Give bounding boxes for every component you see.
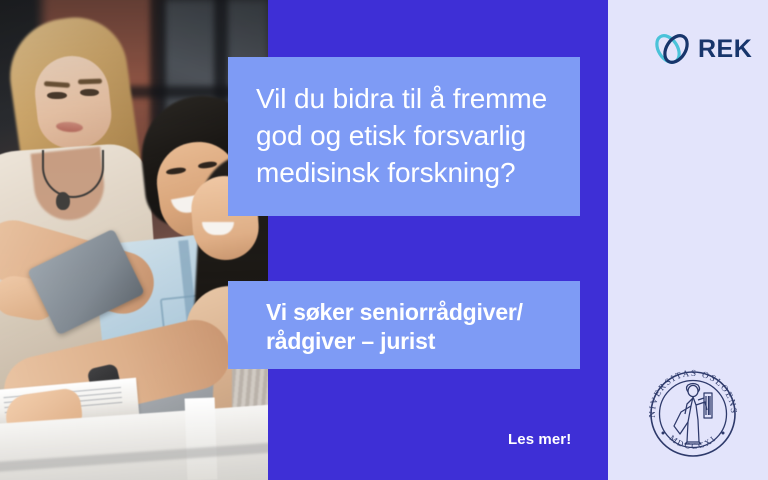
- rek-mark-icon: [650, 27, 694, 71]
- uio-seal-apollo-figure: [674, 384, 712, 445]
- headline-box: Vil du bidra til å fremme god og etisk f…: [228, 57, 580, 216]
- uio-seal-icon: UNIVERSITAS OSLOENSIS MDCCCXI: [641, 362, 745, 466]
- recruitment-banner: REK UNIVERSITAS OSLOENSIS MDCCCXI: [0, 0, 768, 480]
- rek-logo: REK: [650, 26, 745, 72]
- headline-line-1: Vil du bidra til å fremme: [256, 81, 554, 118]
- subheadline-box: Vi søker seniorrådgiver/ rådgiver – juri…: [228, 281, 580, 369]
- read-more-link[interactable]: Les mer!: [508, 431, 571, 448]
- subheadline-line-1: Vi søker seniorrådgiver/: [266, 298, 560, 327]
- rek-wordmark: REK: [698, 37, 752, 62]
- subheadline-line-2: rådgiver – jurist: [266, 327, 560, 356]
- headline-line-3: medisinsk forskning?: [256, 155, 554, 192]
- headline-line-2: god og etisk forsvarlig: [256, 118, 554, 155]
